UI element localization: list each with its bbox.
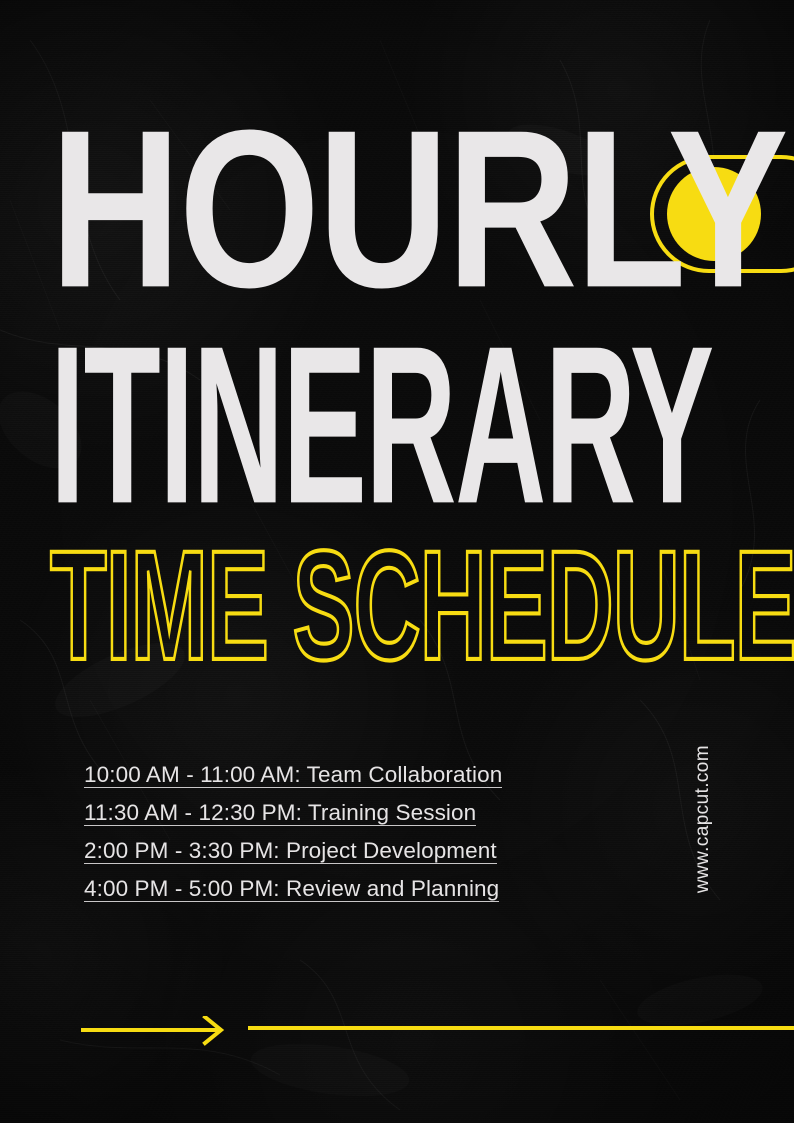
bottom-rule-line bbox=[248, 1026, 794, 1030]
arrow-right-icon bbox=[81, 1016, 231, 1048]
site-url-label: www.capcut.com bbox=[692, 745, 714, 945]
heading-line-time-schedule: TIME SCHEDULE bbox=[50, 528, 794, 684]
schedule-list: 10:00 AM - 11:00 AM: Team Collaboration … bbox=[84, 750, 644, 902]
heading-line-hourly: HOURLY bbox=[50, 96, 786, 321]
schedule-item: 10:00 AM - 11:00 AM: Team Collaboration bbox=[84, 750, 502, 788]
site-url-vertical: www.capcut.com bbox=[692, 545, 714, 745]
schedule-item: 4:00 PM - 5:00 PM: Review and Planning bbox=[84, 864, 499, 902]
heading-line-itinerary: ITINERARY bbox=[50, 312, 713, 537]
schedule-item: 2:00 PM - 3:30 PM: Project Development bbox=[84, 826, 497, 864]
schedule-item: 11:30 AM - 12:30 PM: Training Session bbox=[84, 788, 476, 826]
poster-canvas: HOURLY ITINERARY TIME SCHEDULE 10:00 AM … bbox=[0, 0, 794, 1123]
